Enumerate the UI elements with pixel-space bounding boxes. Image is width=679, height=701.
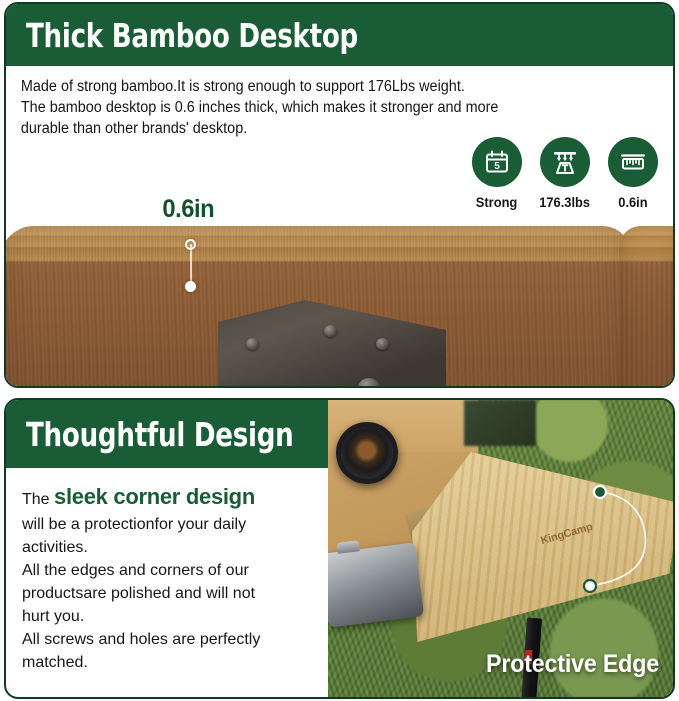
panel-thick-banner: Thick Bamboo Desktop bbox=[6, 4, 673, 66]
design-line-5: hurt you. bbox=[22, 605, 314, 628]
load-pressure-icon bbox=[540, 137, 590, 187]
ruler-icon bbox=[608, 137, 658, 187]
description-line-3: durable than other brands' desktop. bbox=[21, 118, 612, 139]
panel-thoughtful-design: Thoughtful Design The sleek corner desig… bbox=[4, 398, 675, 699]
product-infographic: Thick Bamboo Desktop Made of strong bamb… bbox=[0, 0, 679, 701]
feature-badges: 5 Strong bbox=[471, 137, 659, 210]
badge-strong: 5 Strong bbox=[471, 137, 523, 210]
badge-strong-label: Strong bbox=[476, 194, 518, 210]
panel-thick-description: Made of strong bamboo.It is strong enoug… bbox=[6, 66, 626, 139]
description-line-2: The bamboo desktop is 0.6 inches thick, … bbox=[21, 97, 612, 118]
panel-thick-title: Thick Bamboo Desktop bbox=[26, 16, 358, 55]
design-line-2: activities. bbox=[22, 536, 314, 559]
edge-marker-top bbox=[594, 486, 606, 498]
design-line-1: will be a protectionfor your daily bbox=[22, 513, 314, 536]
thickness-callout-line bbox=[190, 244, 192, 286]
bracket-screw bbox=[376, 338, 389, 350]
badge-thickness: 0.6in bbox=[607, 137, 659, 210]
design-line-7: matched. bbox=[22, 651, 314, 674]
svg-text:5: 5 bbox=[494, 161, 500, 172]
protective-edge-photo: KingCamp Protective Edge bbox=[328, 400, 673, 697]
design-lead-line: The sleek corner design bbox=[22, 484, 314, 513]
description-line-1: Made of strong bamboo.It is strong enoug… bbox=[21, 76, 612, 97]
bracket-screw bbox=[358, 378, 380, 386]
design-line-6: All screws and holes are perfectly bbox=[22, 628, 314, 651]
badge-thickness-label: 0.6in bbox=[618, 194, 647, 210]
thickness-callout-label: 0.6in bbox=[162, 195, 214, 224]
bamboo-tabletop-second-panel bbox=[619, 226, 673, 386]
thickness-marker-bottom bbox=[185, 281, 196, 292]
calendar-5-icon: 5 bbox=[472, 137, 522, 187]
panel-design-title: Thoughtful Design bbox=[26, 415, 294, 454]
design-line-4: productsare polished and will not bbox=[22, 582, 314, 605]
panel-design-body: The sleek corner design will be a protec… bbox=[6, 468, 328, 674]
bamboo-closeup-photo bbox=[6, 212, 673, 386]
edge-marker-bottom bbox=[584, 580, 596, 592]
bracket-screw bbox=[246, 338, 259, 350]
design-lead-highlight: sleek corner design bbox=[54, 484, 255, 509]
panel-thick-bamboo-desktop: Thick Bamboo Desktop Made of strong bamb… bbox=[4, 2, 675, 388]
badge-weight-label: 176.3lbs bbox=[540, 194, 591, 210]
thickness-marker-top bbox=[185, 239, 196, 250]
badge-weight: 176.3lbs bbox=[539, 137, 591, 210]
design-lead-prefix: The bbox=[22, 491, 54, 508]
bracket-screw bbox=[324, 325, 337, 337]
design-line-3: All the edges and corners of our bbox=[22, 559, 314, 582]
protective-edge-caption: Protective Edge bbox=[486, 650, 659, 679]
panel-design-banner: Thoughtful Design bbox=[6, 400, 328, 468]
